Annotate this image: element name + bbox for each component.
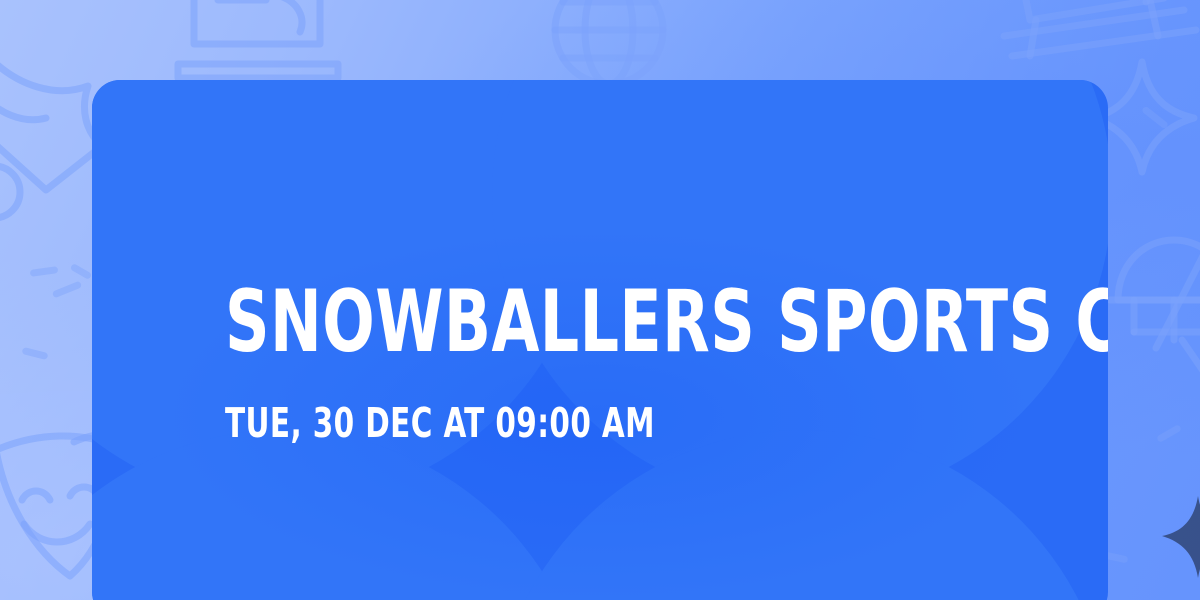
event-datetime: TUE, 30 DEC AT 09:00 AM <box>225 400 883 446</box>
confetti-dash <box>70 263 93 280</box>
confetti-dash <box>52 281 82 299</box>
event-banner: SNOWBALLERS SPORTS CAMPS TUE, 30 DEC AT … <box>0 0 1200 600</box>
sparkle-small-icon <box>1160 492 1200 582</box>
pinata-icon <box>1112 230 1200 390</box>
confetti-dash <box>30 266 59 277</box>
event-text-block: SNOWBALLERS SPORTS CAMPS TUE, 30 DEC AT … <box>225 276 1048 446</box>
event-title: SNOWBALLERS SPORTS CAMPS <box>225 276 883 368</box>
confetti-dash <box>1141 106 1169 130</box>
confetti-dash <box>1156 424 1182 443</box>
event-card[interactable]: SNOWBALLERS SPORTS CAMPS TUE, 30 DEC AT … <box>92 80 1108 600</box>
confetti-dash <box>22 347 49 360</box>
